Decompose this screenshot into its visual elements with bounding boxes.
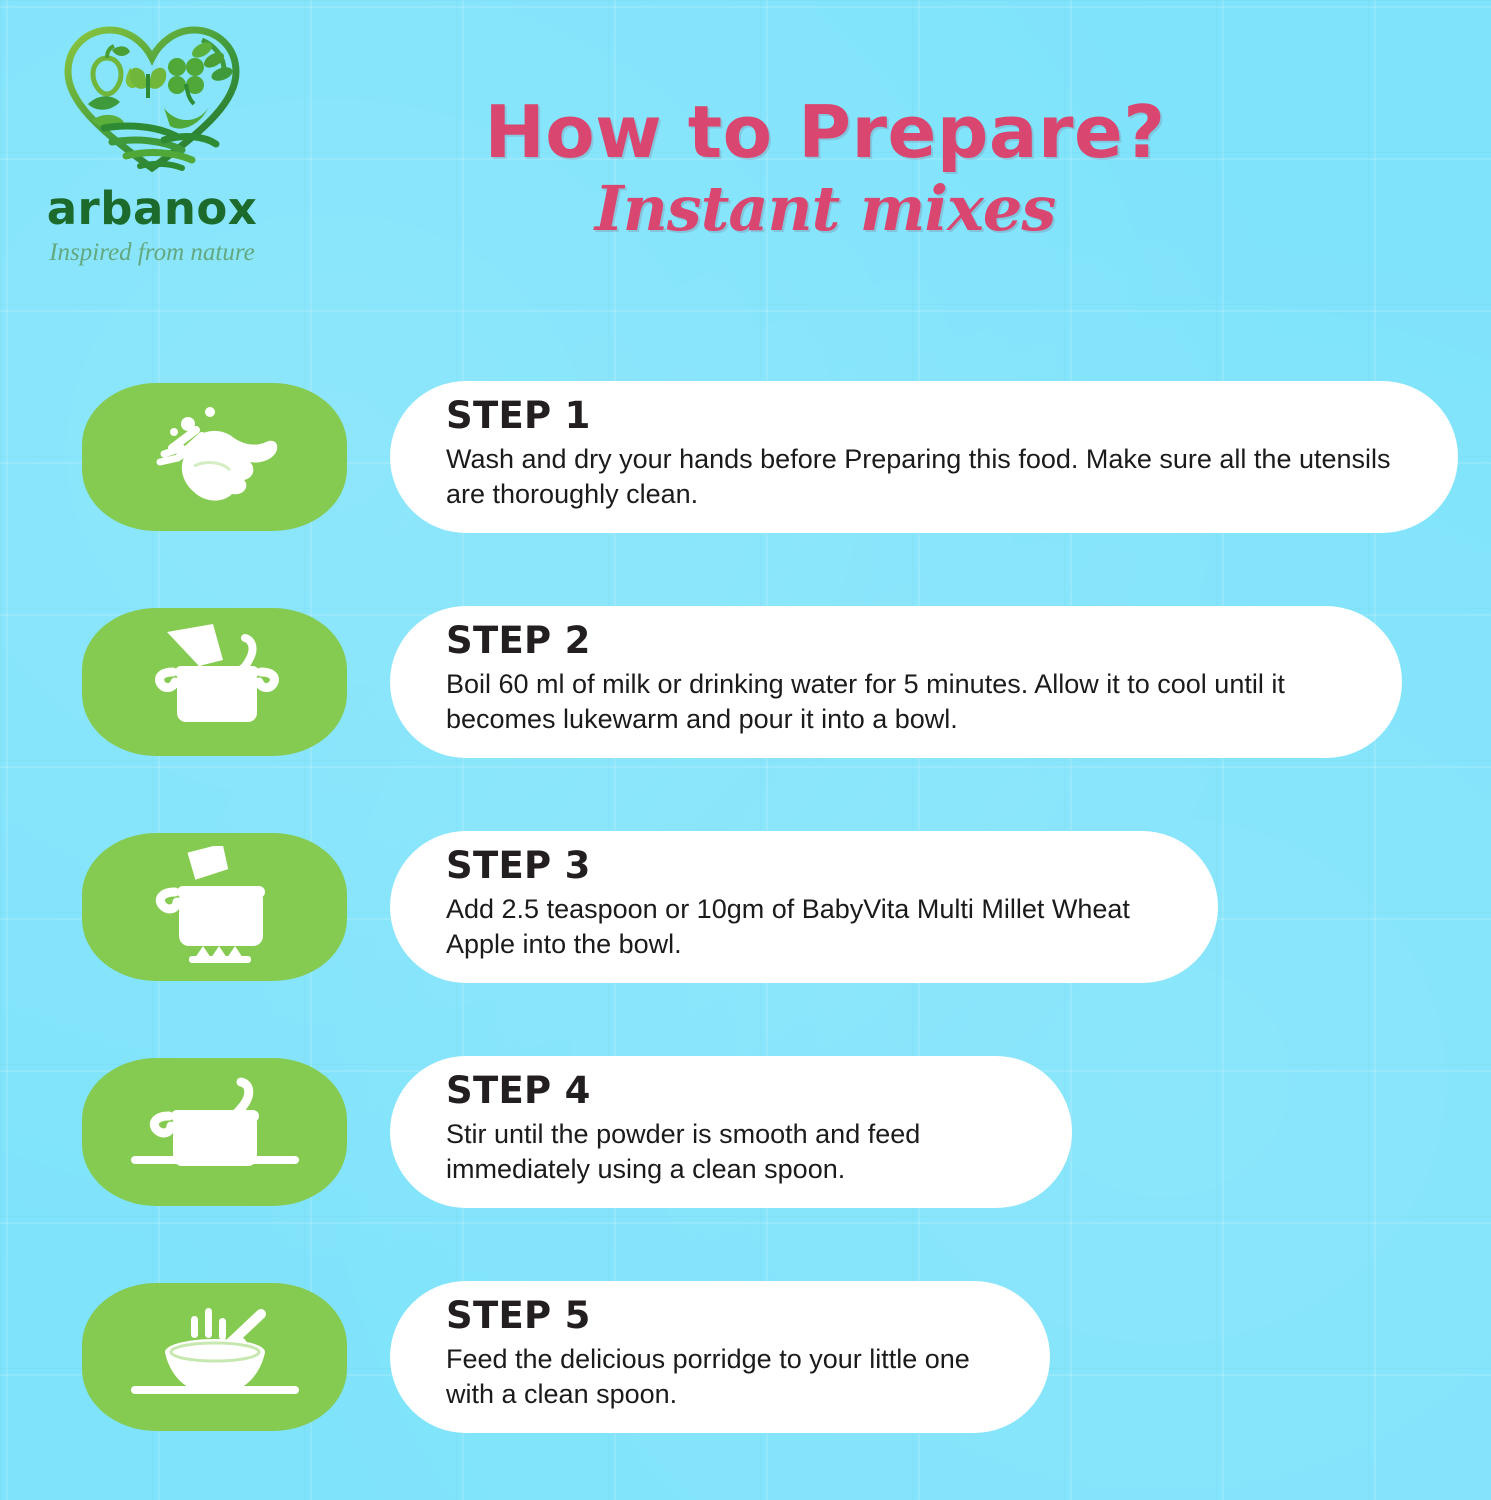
- step-card-4: STEP 4 Stir until the powder is smooth a…: [390, 1056, 1072, 1208]
- step-card-1: STEP 1 Wash and dry your hands before Pr…: [390, 381, 1458, 533]
- step-icon-tile-5: [82, 1283, 347, 1431]
- step-title: STEP 1: [446, 397, 1402, 436]
- step-card-5: STEP 5 Feed the delicious porridge to yo…: [390, 1281, 1050, 1433]
- step-icon-tile-2: [82, 608, 347, 756]
- page-title: How to Prepare? Instant mixes: [300, 96, 1350, 241]
- pot-adding-powder-icon: [127, 846, 302, 968]
- step-title: STEP 5: [446, 1297, 994, 1336]
- nature-heart-logo-icon: [52, 16, 252, 184]
- step-body: Boil 60 ml of milk or drinking water for…: [446, 667, 1346, 739]
- headline-sub: Instant mixes: [300, 177, 1350, 240]
- step-row: STEP 1 Wash and dry your hands before Pr…: [0, 375, 1491, 600]
- washing-hands-icon: [130, 402, 300, 512]
- step-body: Feed the delicious porridge to your litt…: [446, 1342, 994, 1414]
- step-icon-tile-1: [82, 383, 347, 531]
- brand-tagline: Inspired from nature: [22, 240, 282, 265]
- step-card-2: STEP 2 Boil 60 ml of milk or drinking wa…: [390, 606, 1402, 758]
- step-body: Stir until the powder is smooth and feed…: [446, 1117, 1016, 1189]
- step-card-3: STEP 3 Add 2.5 teaspoon or 10gm of BabyV…: [390, 831, 1218, 983]
- step-body: Add 2.5 teaspoon or 10gm of BabyVita Mul…: [446, 892, 1162, 964]
- infographic-page: arbanox Inspired from nature How to Prep…: [0, 0, 1491, 1500]
- step-body: Wash and dry your hands before Preparing…: [446, 442, 1402, 514]
- steps-list: STEP 1 Wash and dry your hands before Pr…: [0, 375, 1491, 1500]
- pot-stirring-spoon-icon: [115, 1076, 315, 1188]
- brand-wordmark: arbanox: [22, 186, 282, 231]
- step-row: STEP 3 Add 2.5 teaspoon or 10gm of BabyV…: [0, 825, 1491, 1050]
- step-row: STEP 4 Stir until the powder is smooth a…: [0, 1050, 1491, 1275]
- steaming-bowl-spoon-icon: [115, 1298, 315, 1416]
- step-title: STEP 2: [446, 622, 1346, 661]
- step-title: STEP 4: [446, 1072, 1016, 1111]
- step-icon-tile-4: [82, 1058, 347, 1206]
- step-title: STEP 3: [446, 847, 1162, 886]
- step-icon-tile-3: [82, 833, 347, 981]
- step-row: STEP 2 Boil 60 ml of milk or drinking wa…: [0, 600, 1491, 825]
- headline-main: How to Prepare?: [300, 96, 1350, 169]
- brand-logo-block: arbanox Inspired from nature: [22, 16, 282, 265]
- pot-pouring-milk-icon: [127, 622, 302, 742]
- step-row: STEP 5 Feed the delicious porridge to yo…: [0, 1275, 1491, 1500]
